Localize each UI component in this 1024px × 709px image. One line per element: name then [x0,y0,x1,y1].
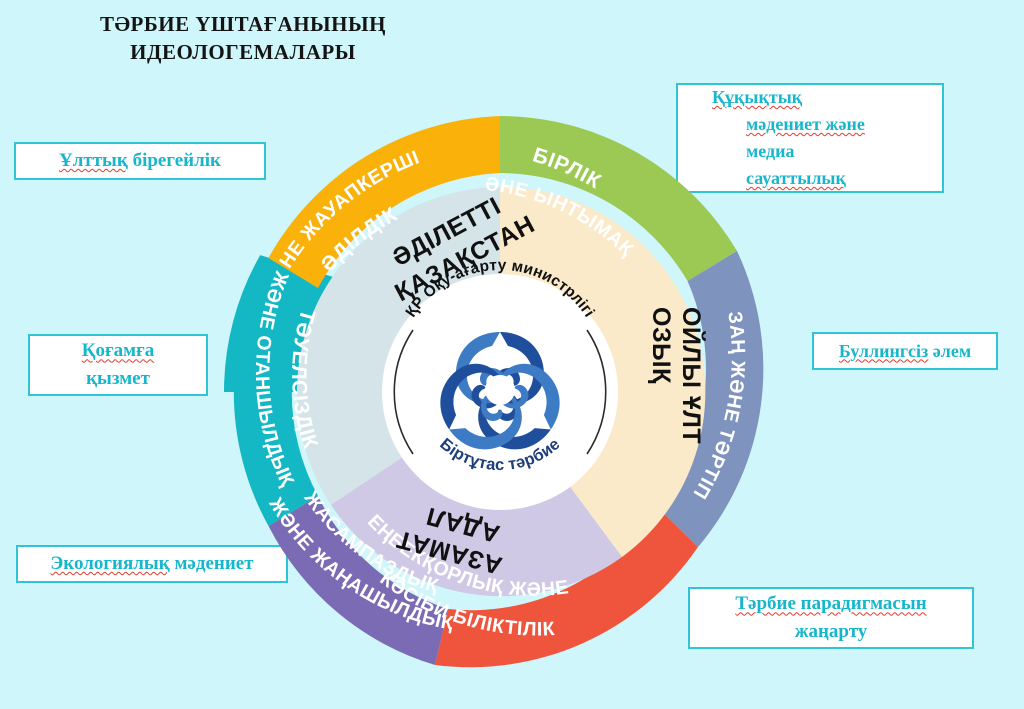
callout-ulttyq-spell: Ұлттық [59,150,128,171]
callout-bullingsiz-alem: Буллингсіз әлем [812,332,998,370]
inner-label-ozyq-line-2: ОЙЛЫ ҰЛТ [677,307,707,444]
callout-eco-spell: Экологиялық [50,553,169,574]
inner-label-ozyq-line-1: ОЗЫҚ [647,307,675,384]
callout-qogamga-line-1: Қоғамға [82,340,154,361]
callout-bull-rest: әлем [928,341,971,361]
page-title-line-1: ТӘРБИЕ ҮШТАҒАНЫНЫҢ [100,12,386,36]
wheel-diagram: ҚР Оқу-ағарту министрлігі Біртұтас тәрби… [170,62,830,672]
callout-bull-spell: Буллингсіз [839,341,928,361]
page-title: ТӘРБИЕ ҮШТАҒАНЫНЫҢ ИДЕОЛОГЕМАЛАРЫ [78,10,408,67]
infographic-canvas: ТӘРБИЕ ҮШТАҒАНЫНЫҢ ИДЕОЛОГЕМАЛАРЫ Ұлттық… [0,0,1024,709]
